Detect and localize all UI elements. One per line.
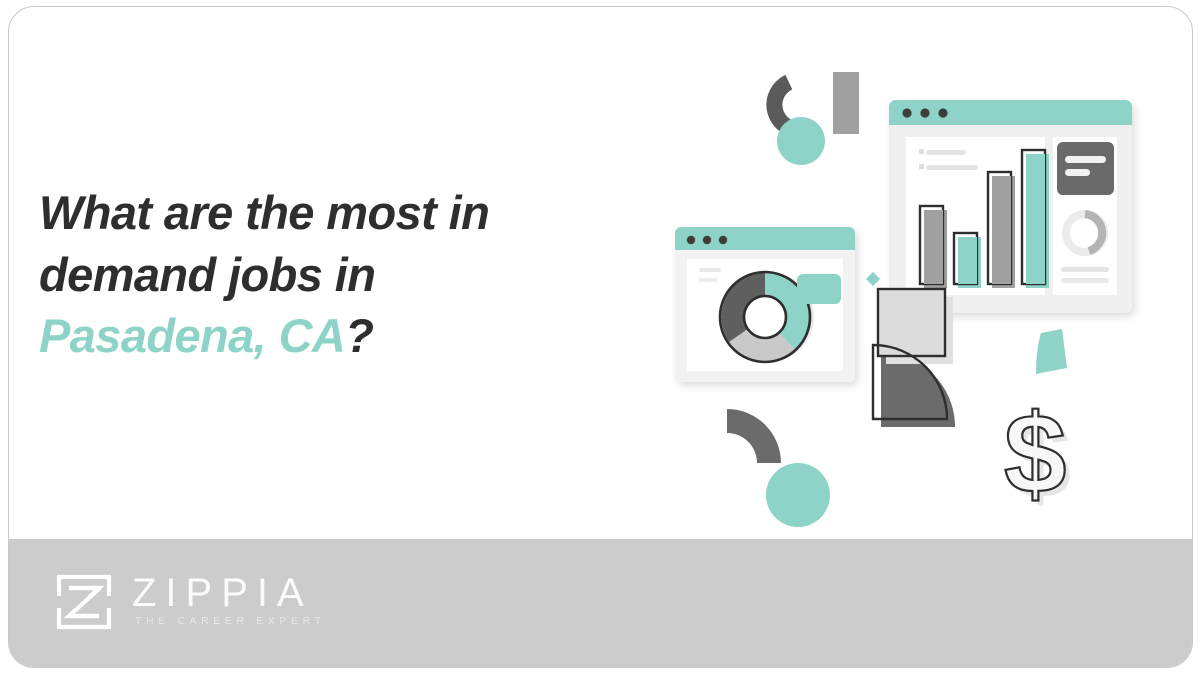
wedge-icon bbox=[1036, 329, 1067, 374]
window-dot-icon bbox=[920, 108, 929, 117]
headline-question-mark: ? bbox=[345, 309, 373, 362]
headline-line-1: What are the most in bbox=[39, 182, 629, 244]
zippia-z-mark-icon bbox=[56, 574, 112, 630]
dollar-sign-icon: $ $ bbox=[1004, 391, 1071, 521]
window-dot-icon bbox=[719, 236, 727, 244]
svg-text:$: $ bbox=[1004, 391, 1066, 516]
browser-window-icon bbox=[889, 100, 1132, 313]
tooltip-box bbox=[797, 274, 841, 304]
circle-icon bbox=[777, 117, 825, 165]
window-dot-icon bbox=[938, 108, 947, 117]
window-dot-icon bbox=[902, 108, 911, 117]
brand-text-block: ZIPPIA THE CAREER EXPERT bbox=[132, 574, 326, 629]
headline-location: Pasadena, CA bbox=[39, 309, 345, 362]
sidebar-card bbox=[1057, 142, 1114, 195]
page-title: What are the most in demand jobs in Pasa… bbox=[39, 182, 629, 367]
promo-card: What are the most in demand jobs in Pasa… bbox=[8, 6, 1193, 668]
brand-name: ZIPPIA bbox=[132, 574, 326, 612]
headline-line-2: demand jobs in bbox=[39, 244, 629, 306]
circle-icon bbox=[766, 463, 830, 527]
brand-logo[interactable]: ZIPPIA THE CAREER EXPERT bbox=[56, 574, 326, 630]
quarter-circle-icon bbox=[873, 289, 955, 427]
browser-window-icon bbox=[675, 227, 855, 382]
window-dot-icon bbox=[687, 236, 695, 244]
headline-line-3: Pasadena, CA? bbox=[39, 305, 629, 367]
data-analytics-illustration: $ $ bbox=[649, 37, 1193, 557]
window-dot-icon bbox=[703, 236, 711, 244]
brand-tagline: THE CAREER EXPERT bbox=[132, 613, 326, 630]
diamond-icon bbox=[866, 272, 880, 286]
rectangle-icon bbox=[833, 72, 859, 134]
arc-ring-icon bbox=[727, 409, 781, 463]
